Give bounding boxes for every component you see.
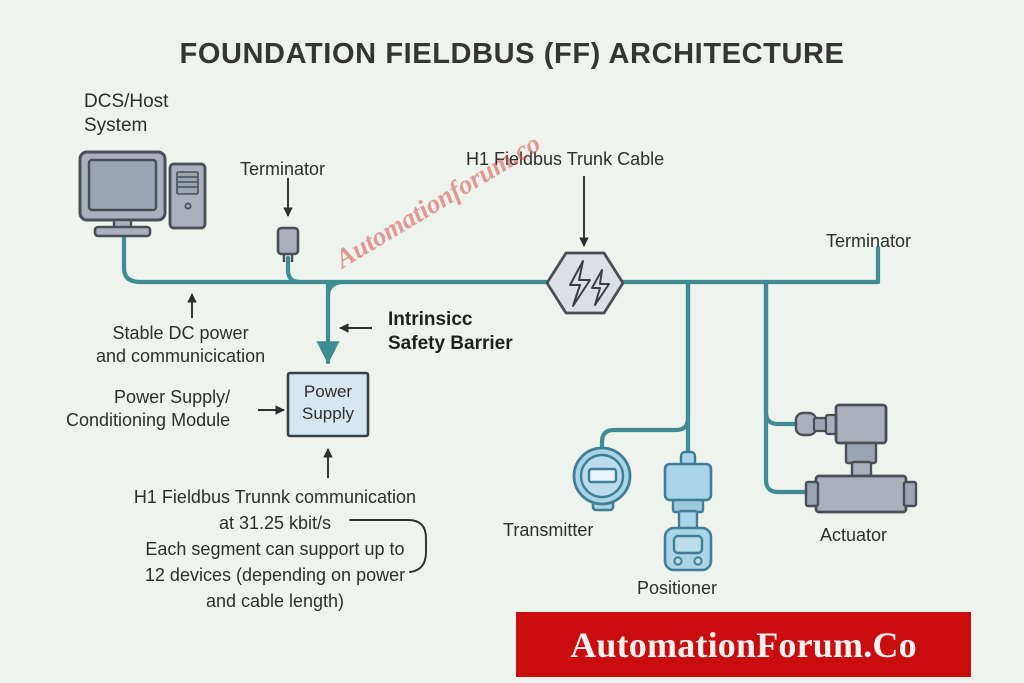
label-terminator-right: Terminator xyxy=(826,230,911,253)
label-positioner: Positioner xyxy=(637,577,717,600)
diagram-canvas: FOUNDATION FIELDBUS (FF) ARCHITECTURE DC… xyxy=(0,0,1024,683)
label-transmitter: Transmitter xyxy=(503,519,593,542)
label-actuator: Actuator xyxy=(820,524,887,547)
spur-left-corner xyxy=(328,282,344,296)
label-safety-barrier: Intrinsicc Safety Barrier xyxy=(388,308,513,357)
footer-logo-text: AutomationForum.Co xyxy=(570,624,917,666)
label-trunk-cable: H1 Fieldbus Trunk Cable xyxy=(466,148,664,171)
footer-logo-banner: AutomationForum.Co xyxy=(516,612,971,677)
label-power-supply-box: Power Supply xyxy=(289,381,367,426)
transmitter-icon xyxy=(574,448,630,510)
label-power-conditioning-module: Power Supply/ Conditioning Module xyxy=(66,386,230,432)
computer-tower-icon xyxy=(170,164,205,228)
trunk-main-line xyxy=(124,232,878,282)
label-stable-dc-power: Stable DC power and communicication xyxy=(96,322,265,368)
lightning-hexagon-icon xyxy=(547,253,623,313)
page-title: FOUNDATION FIELDBUS (FF) ARCHITECTURE xyxy=(0,36,1024,73)
dcs-host-group xyxy=(80,152,205,236)
spur-actuator-head xyxy=(766,282,798,424)
label-dcs-host: DCS/Host System xyxy=(84,90,168,139)
spur-transmitter xyxy=(602,282,688,452)
label-segment-note: H1 Fieldbus Trunnk communication at 31.2… xyxy=(70,484,480,614)
terminator-left-drop xyxy=(288,258,300,282)
spur-actuator-body xyxy=(766,282,812,492)
monitor-icon xyxy=(80,152,165,236)
actuator-valve-icon xyxy=(796,405,916,512)
positioner-valve-icon xyxy=(665,452,711,570)
label-terminator-left: Terminator xyxy=(240,158,325,181)
